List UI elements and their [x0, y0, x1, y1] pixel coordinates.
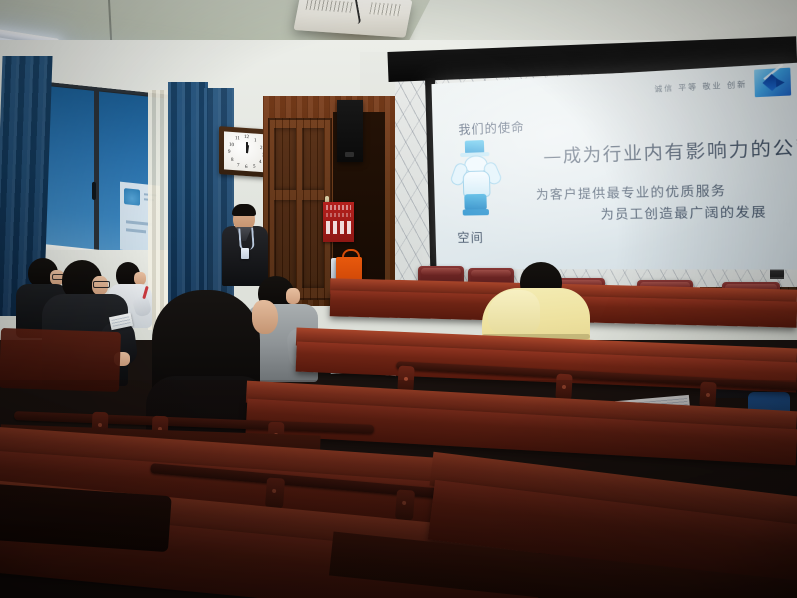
lecture-hall-photo: 12 1 2 3 4 5 6 7 8 9 10 11 — [0, 0, 797, 598]
glasses-icon — [93, 281, 110, 288]
bench-bracket — [395, 489, 415, 520]
door-panel-inset — [274, 200, 296, 288]
slide-title: 我们的使命 — [458, 118, 525, 138]
wall-speaker — [337, 100, 363, 162]
exam-room-sign — [323, 202, 354, 242]
window-mullion — [94, 89, 99, 272]
speaker-port — [345, 152, 354, 157]
door-panel-inset — [302, 200, 324, 288]
slide-mascot-illustration — [451, 139, 499, 216]
slide-body-line-1: 为客户提供最专业的优质服务 — [536, 181, 727, 203]
slide-headline: —成为行业内有影响力的公司 — [543, 131, 797, 167]
slide-header-slogan: 诚信 平等 敬业 创新 — [654, 78, 747, 94]
projector-vent — [306, 0, 354, 13]
logo-arrow — [776, 78, 785, 87]
projector-vent-secondary — [369, 2, 401, 16]
presenter-badge — [241, 248, 249, 259]
slide-body-line-3: 空间 — [457, 228, 484, 245]
coat-hood — [488, 290, 540, 334]
bench-bracket — [699, 382, 716, 409]
slide-header: 诚信 平等 敬业 创新 — [654, 68, 791, 103]
desk-left-edge — [0, 328, 121, 392]
poster-text-line — [126, 228, 146, 233]
projection-screen: 诚信 平等 敬业 创新 我们的使命 —成为行业内有影响力的公司 为客户提供最专业… — [431, 62, 797, 269]
attendee-raised-hand — [252, 300, 278, 334]
bench-bracket — [265, 477, 285, 508]
mascot-legs — [464, 194, 487, 211]
card-lines — [111, 316, 130, 327]
door-panel-inset — [302, 128, 324, 190]
sign-main-text — [326, 221, 351, 234]
slide-body-line-2: 为员工创造最广阔的发展 — [600, 202, 767, 223]
presenter-hair — [232, 204, 256, 216]
clock-hour-hand — [246, 145, 249, 153]
sign-header-text — [326, 205, 351, 210]
poster-image — [124, 188, 140, 206]
mascot-base — [463, 209, 489, 216]
attendee-face — [286, 288, 300, 304]
window-latch-handle[interactable] — [92, 182, 96, 200]
bench-bracket — [555, 374, 572, 401]
bench-seat-foreground — [0, 484, 172, 552]
door-panel-inset — [274, 128, 296, 190]
company-logo-icon — [754, 68, 791, 98]
sign-sub-text — [326, 213, 351, 217]
